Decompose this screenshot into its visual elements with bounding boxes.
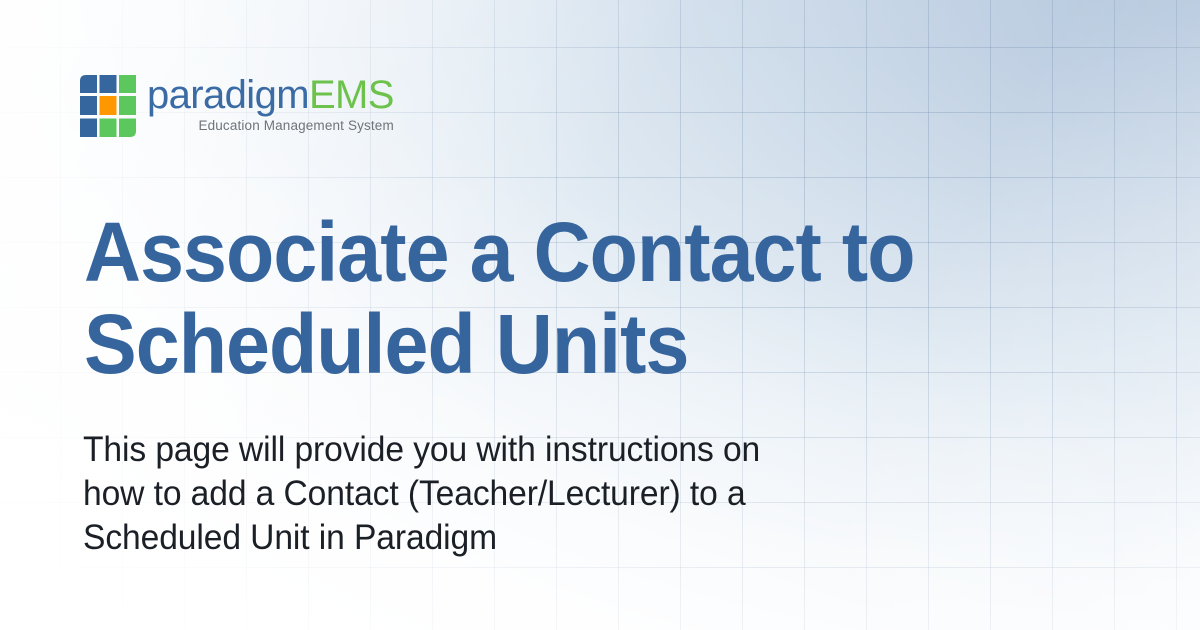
paradigm-grid-logo-icon <box>79 74 137 138</box>
page-subtitle-line-3: Scheduled Unit in Paradigm <box>83 516 832 560</box>
page-title: Associate a Contact to Scheduled Units <box>84 206 986 390</box>
hero-content: paradigmEMS Education Management System … <box>0 0 1200 630</box>
brand-wordmark: paradigmEMS <box>147 75 394 115</box>
wordmark-primary: paradigm <box>147 73 309 117</box>
page-title-line-1: Associate a Contact to <box>84 206 986 298</box>
page-subtitle: This page will provide you with instruct… <box>83 428 832 560</box>
page-subtitle-line-2: how to add a Contact (Teacher/Lecturer) … <box>83 472 832 516</box>
brand-logo[interactable]: paradigmEMS Education Management System <box>79 74 394 138</box>
page-title-line-2: Scheduled Units <box>84 298 986 390</box>
hero-banner: paradigmEMS Education Management System … <box>0 0 1200 630</box>
brand-tagline: Education Management System <box>198 118 393 133</box>
page-subtitle-line-1: This page will provide you with instruct… <box>83 428 832 472</box>
brand-wordmark-block: paradigmEMS Education Management System <box>147 74 394 133</box>
wordmark-accent: EMS <box>309 73 394 117</box>
